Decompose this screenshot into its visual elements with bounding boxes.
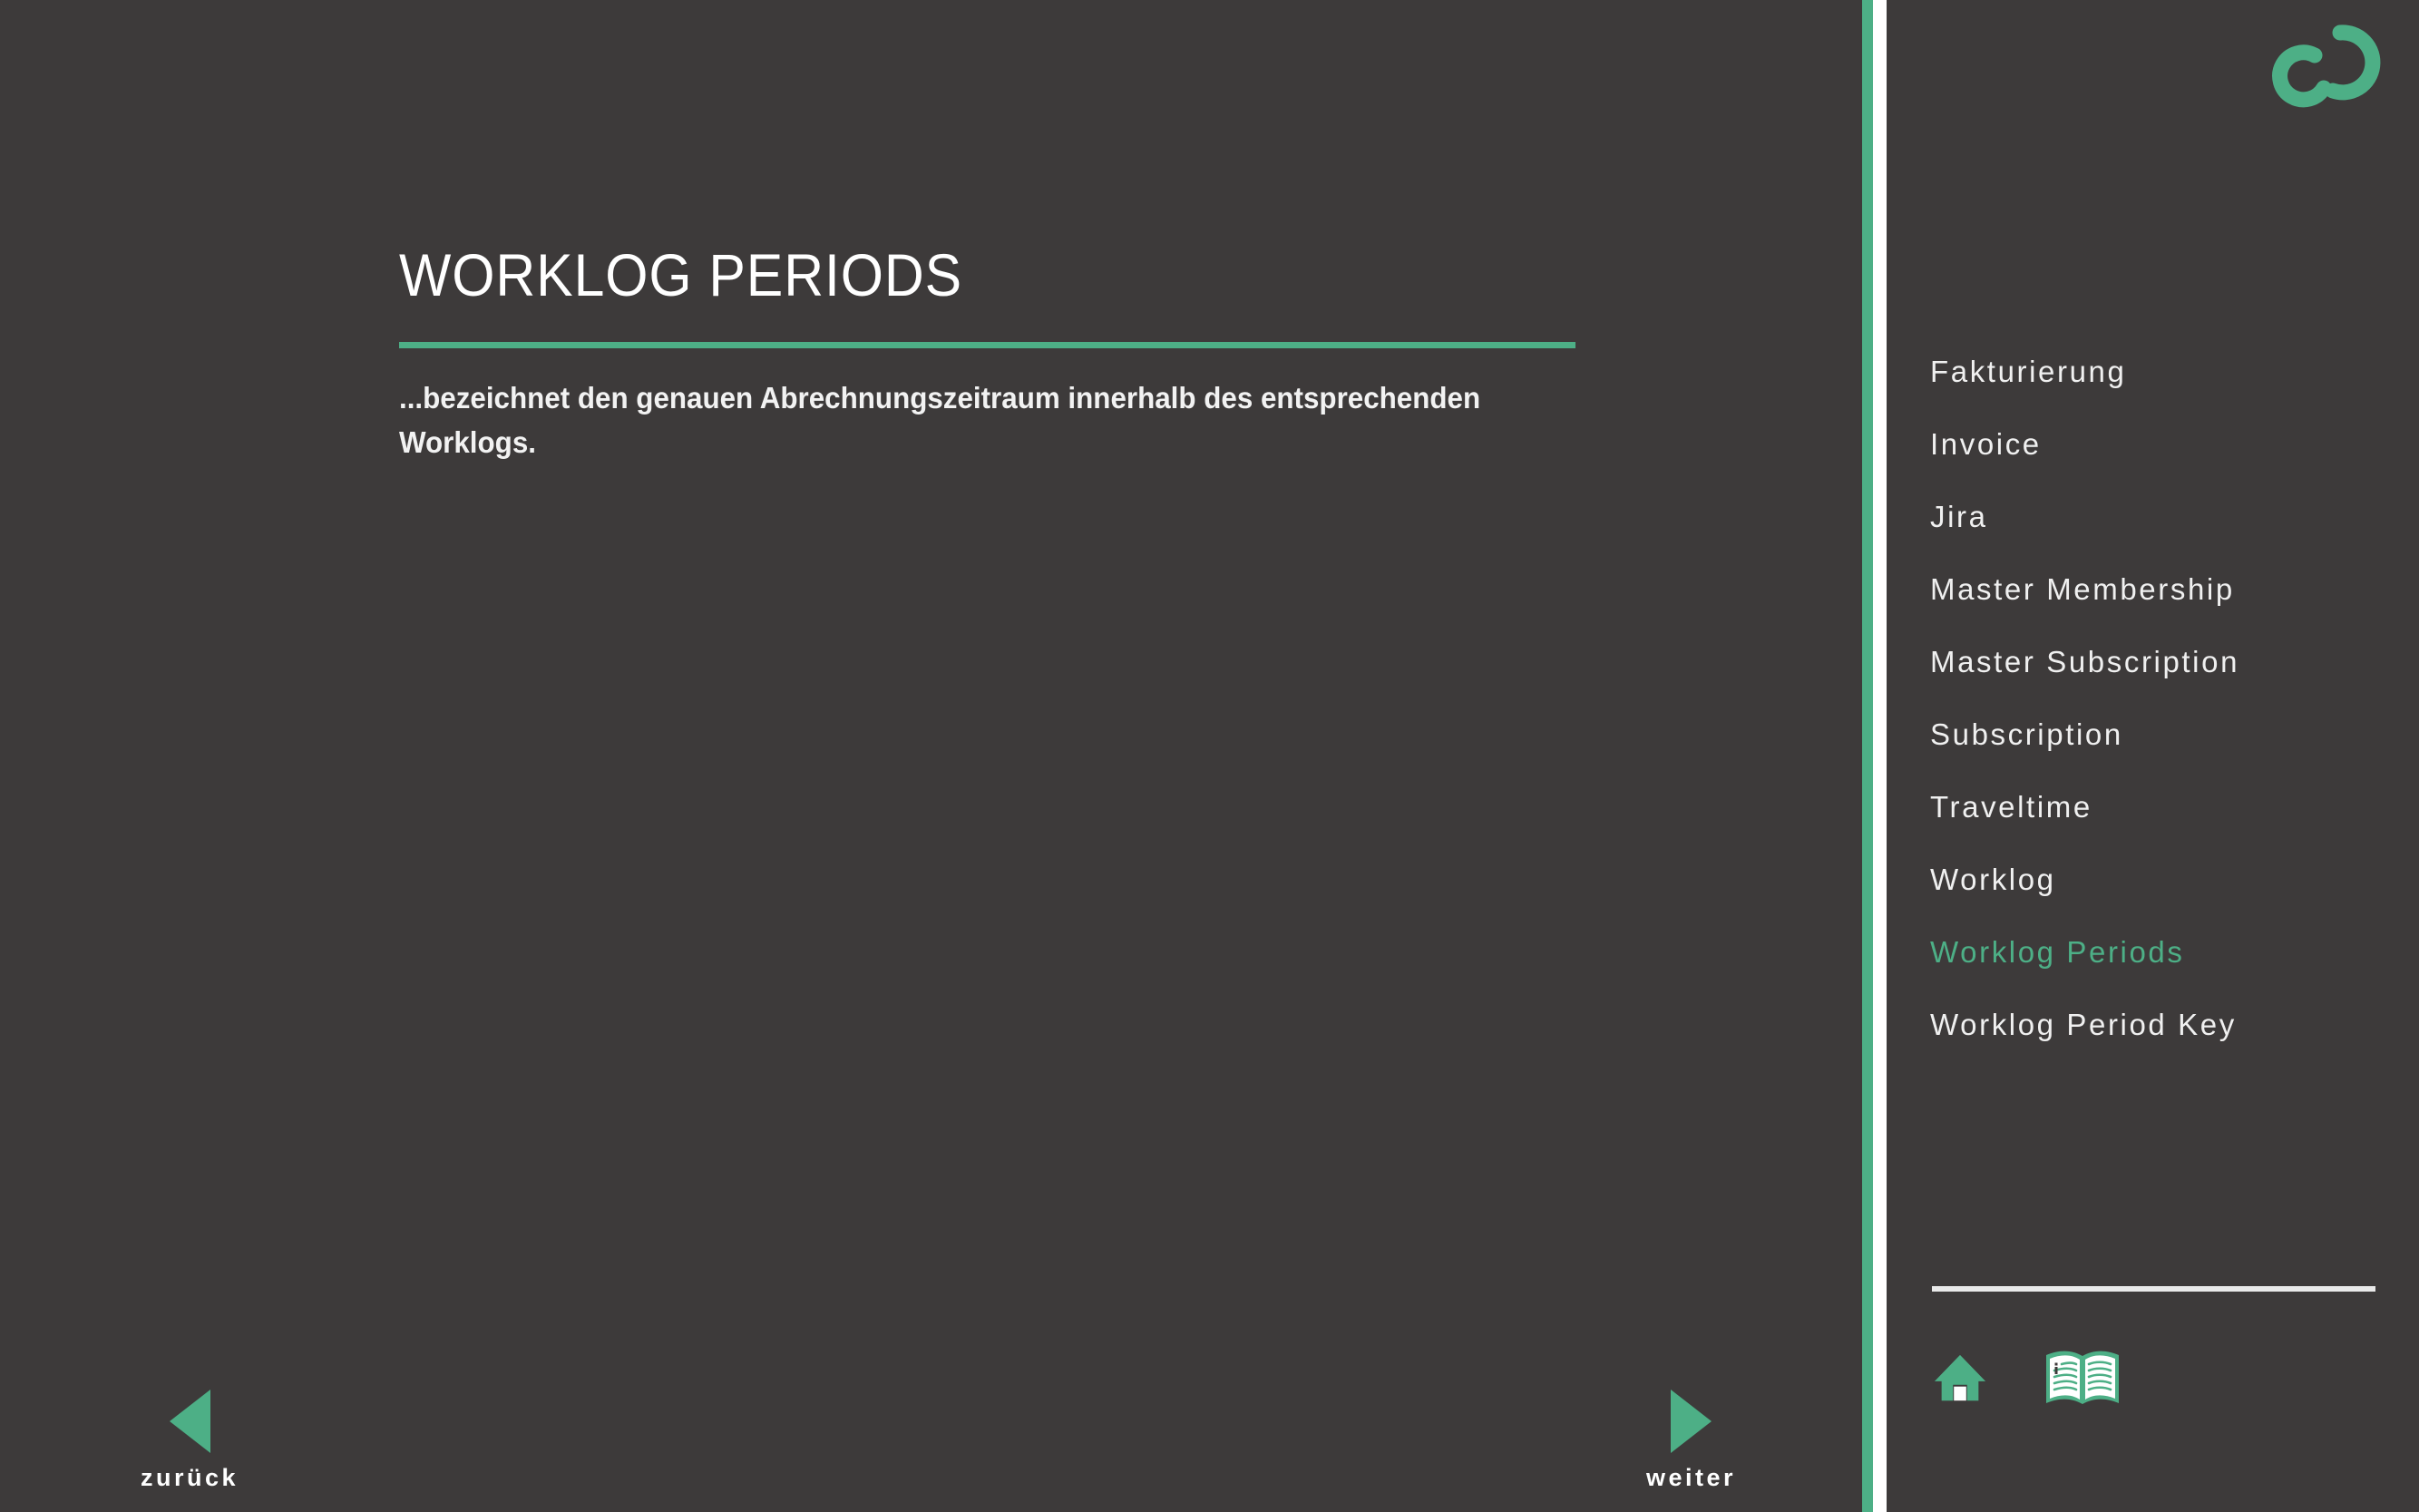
main-content-panel: WORKLOG PERIODS ...bezeichnet den genaue… bbox=[0, 0, 1862, 1512]
previous-button[interactable]: zurück bbox=[141, 1390, 239, 1492]
divider-green-stripe bbox=[1862, 0, 1873, 1512]
page-title: WORKLOG PERIODS bbox=[399, 240, 962, 309]
previous-button-label: zurück bbox=[141, 1464, 239, 1492]
sidebar-menu: Fakturierung Invoice Jira Master Members… bbox=[1930, 336, 2402, 1061]
sidebar-panel: Fakturierung Invoice Jira Master Members… bbox=[1887, 0, 2419, 1512]
title-underline-rule bbox=[399, 342, 1575, 348]
sidebar-item-invoice[interactable]: Invoice bbox=[1930, 408, 2402, 481]
sidebar-item-worklog-period-key[interactable]: Worklog Period Key bbox=[1930, 989, 2402, 1061]
sidebar-item-worklog[interactable]: Worklog bbox=[1930, 844, 2402, 916]
triangle-right-icon bbox=[1671, 1390, 1712, 1453]
sidebar-item-fakturierung[interactable]: Fakturierung bbox=[1930, 336, 2402, 408]
cloud-loop-logo bbox=[2271, 16, 2387, 112]
sidebar-item-traveltime[interactable]: Traveltime bbox=[1930, 771, 2402, 844]
sidebar-item-worklog-periods[interactable]: Worklog Periods bbox=[1930, 916, 2402, 989]
open-book-glossary-icon[interactable] bbox=[2044, 1350, 2121, 1406]
home-icon[interactable] bbox=[1932, 1350, 1988, 1406]
sidebar-item-subscription[interactable]: Subscription bbox=[1930, 698, 2402, 771]
sidebar-divider-rule bbox=[1932, 1286, 2375, 1292]
triangle-left-icon bbox=[170, 1390, 210, 1453]
sidebar-item-master-subscription[interactable]: Master Subscription bbox=[1930, 626, 2402, 698]
sidebar-item-jira[interactable]: Jira bbox=[1930, 481, 2402, 553]
sidebar-item-master-membership[interactable]: Master Membership bbox=[1930, 553, 2402, 626]
slide-root: WORKLOG PERIODS ...bezeichnet den genaue… bbox=[0, 0, 2419, 1512]
page-description: ...bezeichnet den genauen Abrechnungszei… bbox=[399, 376, 1485, 465]
divider-white-stripe bbox=[1873, 0, 1887, 1512]
next-button-label: weiter bbox=[1646, 1464, 1736, 1492]
next-button[interactable]: weiter bbox=[1646, 1390, 1736, 1492]
sidebar-icon-bar bbox=[1932, 1350, 2121, 1406]
